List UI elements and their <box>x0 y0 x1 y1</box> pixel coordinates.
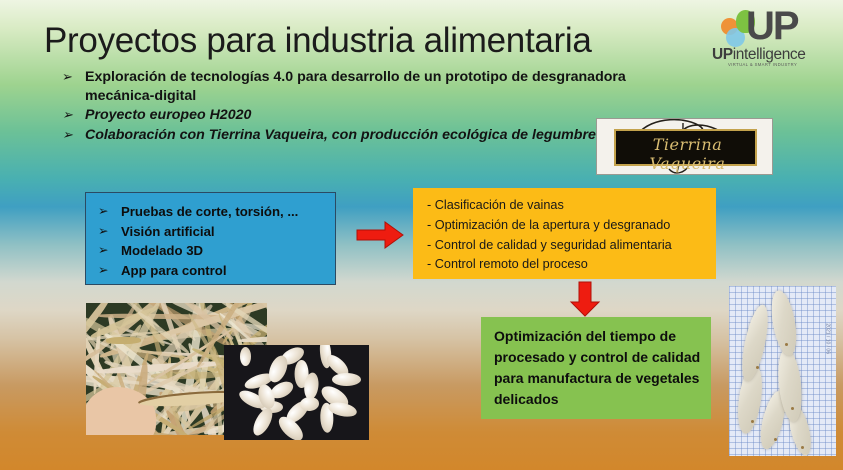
photo-bean <box>240 347 251 366</box>
photo-pod-segment <box>737 303 773 383</box>
photo-seed-mark <box>774 438 777 441</box>
photo-straw-strand <box>106 337 141 344</box>
photo-seed-mark <box>785 343 788 346</box>
bullet-arrow-icon: ➢ <box>62 68 73 87</box>
bullet-arrow-icon: ➢ <box>98 202 108 222</box>
arrow-right-icon <box>355 220 405 250</box>
photo-pods-on-grid: 2021 / 10 / 06 <box>729 286 836 456</box>
slide-title: Proyectos para industria alimentaria <box>44 21 592 61</box>
logo-wordmark-rest: intelligence <box>733 46 806 63</box>
bullet-item-2: ➢ Proyecto europeo H2020 <box>62 106 662 125</box>
objectives-item-1: - Clasificación de vainas <box>427 196 716 216</box>
bullet-arrow-icon: ➢ <box>98 222 108 242</box>
bullet-item-3: ➢ Colaboración con Tierrina Vaqueira, co… <box>62 126 662 145</box>
objectives-item-2: - Optimización de la apertura y desgrana… <box>427 216 716 236</box>
photo-bean <box>299 396 320 412</box>
objectives-box: - Clasificación de vainas - Optimización… <box>413 188 716 279</box>
logo-up-text: UP <box>746 6 798 46</box>
bullet-item-1-text: Exploración de tecnologías 4.0 para desa… <box>85 69 626 104</box>
techniques-item-2-text: Visión artificial <box>121 224 215 239</box>
bullet-arrow-icon: ➢ <box>62 106 73 125</box>
tierrina-script-text: Tierrina Vaqueira <box>616 135 759 173</box>
arrow-down-icon <box>568 281 602 317</box>
tierrina-vaqueira-logo: Tierrina Vaqueira <box>596 118 773 175</box>
bullet-item-1: ➢ Exploración de tecnologías 4.0 para de… <box>62 68 662 105</box>
photo-date-stamp: 2021 / 10 / 06 <box>825 323 831 354</box>
logo-tagline: VIRTUAL & SMART INDUSTRY <box>728 62 797 67</box>
techniques-item-1: ➢ Pruebas de corte, torsión, ... <box>98 202 325 222</box>
photo-bean <box>250 406 276 439</box>
outcome-box: Optimización del tiempo de procesado y c… <box>481 317 711 419</box>
techniques-item-4: ➢ App para control <box>98 261 325 281</box>
bullet-list: ➢ Exploración de tecnologías 4.0 para de… <box>62 68 662 145</box>
bullet-item-2-text: Proyecto europeo H2020 <box>85 107 251 123</box>
logo-wordmark-bold: UP <box>712 46 733 63</box>
photo-seed-mark <box>801 446 804 449</box>
techniques-item-4-text: App para control <box>121 263 227 278</box>
objectives-item-4: - Control remoto del proceso <box>427 255 716 275</box>
logo-dots-group: UP <box>720 10 768 46</box>
up-intelligence-logo: UP UPintelligence VIRTUAL & SMART INDUST… <box>706 8 834 70</box>
bullet-arrow-icon: ➢ <box>98 241 108 261</box>
techniques-item-3: ➢ Modelado 3D <box>98 241 325 261</box>
tierrina-plate: Tierrina Vaqueira <box>614 129 757 166</box>
objectives-item-3: - Control de calidad y seguridad aliment… <box>427 236 716 256</box>
photo-pod-segment <box>767 289 800 358</box>
techniques-item-1-text: Pruebas de corte, torsión, ... <box>121 204 298 219</box>
techniques-item-2: ➢ Visión artificial <box>98 222 325 242</box>
photo-white-beans <box>224 345 369 440</box>
outcome-text: Optimización del tiempo de procesado y c… <box>494 326 701 410</box>
techniques-item-3-text: Modelado 3D <box>121 243 203 258</box>
slide-canvas: Proyectos para industria alimentaria UP … <box>0 0 843 470</box>
bullet-item-3-text: Colaboración con Tierrina Vaqueira, con … <box>85 127 604 143</box>
bullet-arrow-icon: ➢ <box>98 261 108 281</box>
bullet-arrow-icon: ➢ <box>62 126 73 145</box>
photo-bean <box>332 373 361 386</box>
techniques-box: ➢ Pruebas de corte, torsión, ... ➢ Visió… <box>85 192 336 285</box>
